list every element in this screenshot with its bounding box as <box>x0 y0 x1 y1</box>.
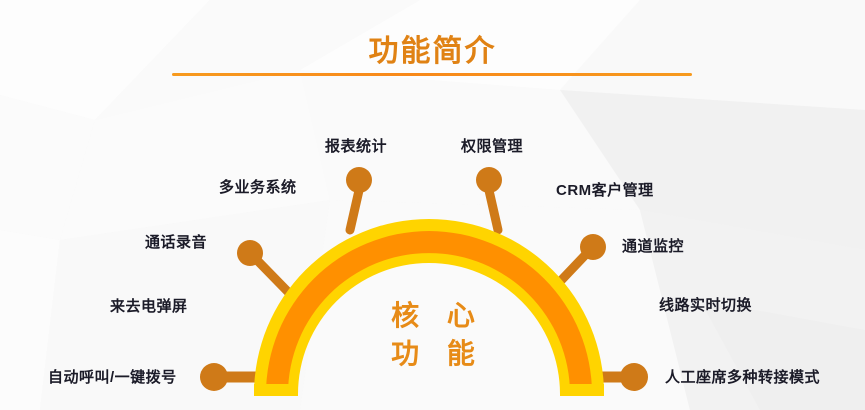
center-line-1: 核 心 <box>348 297 518 335</box>
feature-label-auto-dial[interactable]: 自动呼叫/一键拨号 <box>48 366 177 387</box>
core-function-center-label: 核 心 功 能 <box>348 297 518 373</box>
feature-label-call-recording[interactable]: 通话录音 <box>145 231 207 252</box>
slide-canvas: 功能简介 核 心 功 能 <box>0 0 865 410</box>
pin-knob-channel-monitor <box>580 234 606 260</box>
center-line-2: 功 能 <box>348 335 518 373</box>
feature-label-channel-monitor[interactable]: 通道监控 <box>622 235 684 256</box>
pin-knob-call-recording <box>237 240 263 266</box>
pin-knob-report-stats <box>346 167 372 193</box>
feature-label-report-stats[interactable]: 报表统计 <box>325 135 387 156</box>
pin-knob-auto-dial <box>200 363 228 391</box>
pin-knob-permission <box>476 167 502 193</box>
pin-knob-agent-transfer <box>620 363 648 391</box>
page-title: 功能简介 <box>0 26 865 70</box>
feature-label-screen-popup[interactable]: 来去电弹屏 <box>110 295 188 316</box>
feature-label-line-switch[interactable]: 线路实时切换 <box>659 294 752 315</box>
title-underline <box>172 73 692 76</box>
feature-label-multi-business[interactable]: 多业务系统 <box>219 176 297 197</box>
feature-label-permission[interactable]: 权限管理 <box>461 135 523 156</box>
feature-label-crm[interactable]: CRM客户管理 <box>556 179 654 200</box>
feature-label-agent-transfer[interactable]: 人工座席多种转接模式 <box>665 366 820 387</box>
